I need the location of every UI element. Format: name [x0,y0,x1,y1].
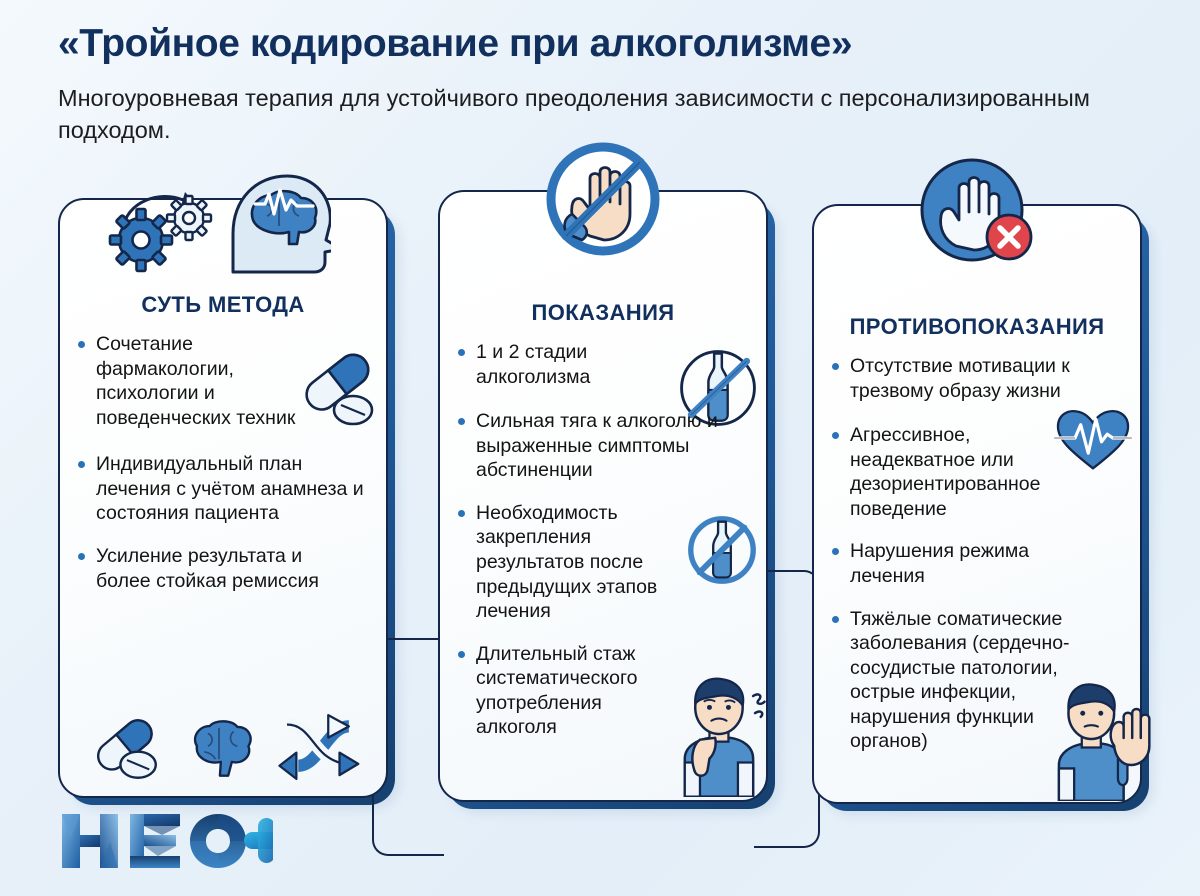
stop-hand-prohibited-icon [538,140,668,252]
cards-container: СУТЬ МЕТОДА Сочетание фармакологии, псих… [0,190,1200,815]
card-pokazaniya[interactable]: ПОКАЗАНИЯ [438,190,768,802]
logo-plus-sign [244,818,273,863]
page-subtitle: Многоуровневая терапия для устойчивого п… [58,82,1138,147]
list-item: Сочетание фармакологии, психологии и пов… [76,332,336,430]
list-item: Индивидуальный план лечения с учётом ана… [76,452,366,526]
logo-letter-o [190,814,246,868]
card-2-bullets: 1 и 2 стадии алкоголизма Сильная тяга к … [456,340,750,756]
brain-icon [182,715,256,788]
shuffle-arrows-icon [272,711,362,788]
card-3-bullets: Отсутствие мотивации к трезвому образу ж… [830,354,1124,770]
logo-letter-e [130,814,180,868]
list-item: Агрессивное, неадекватное или дезориенти… [830,423,1052,521]
list-item: Усиление результата и более стойкая реми… [76,544,361,593]
card-1-heading: СУТЬ МЕТОДА [76,292,370,318]
card-3-heading: ПРОТИВОПОКАЗАНИЯ [830,314,1124,340]
list-item: Необходимость закрепления результатов по… [456,501,692,624]
card-1-decor-row [78,696,370,788]
list-item: Отсутствие мотивации к трезвому образу ж… [830,354,1120,403]
page-header: «Тройное кодирование при алкоголизме» Мн… [0,0,1200,147]
logo-letter-n [62,814,118,868]
list-item: Тяжёлые соматические заболевания (сердеч… [830,607,1116,754]
list-item: 1 и 2 стадии алкоголизма [456,340,646,389]
hand-stop-with-red-x-icon [912,154,1042,266]
gears-and-head-brain-icon [101,168,331,278]
list-item: Длительный стаж систематического употреб… [456,642,678,740]
neo-plus-logo[interactable]: НЕО+ [58,810,273,872]
list-item: Сильная тяга к алкоголю и выраженные сим… [456,409,752,483]
list-item: Нарушения режима лечения [830,539,1042,588]
pill-capsule-icon [86,713,166,788]
card-2-heading: ПОКАЗАНИЯ [456,300,750,326]
card-sut-metoda[interactable]: СУТЬ МЕТОДА Сочетание фармакологии, псих… [58,198,388,798]
page-title: «Тройное кодирование при алкоголизме» [58,22,1200,66]
card-protivopokazaniya[interactable]: ПРОТИВОПОКАЗАНИЯ [812,204,1142,804]
card-1-bullets: Сочетание фармакологии, психологии и пов… [76,332,370,609]
